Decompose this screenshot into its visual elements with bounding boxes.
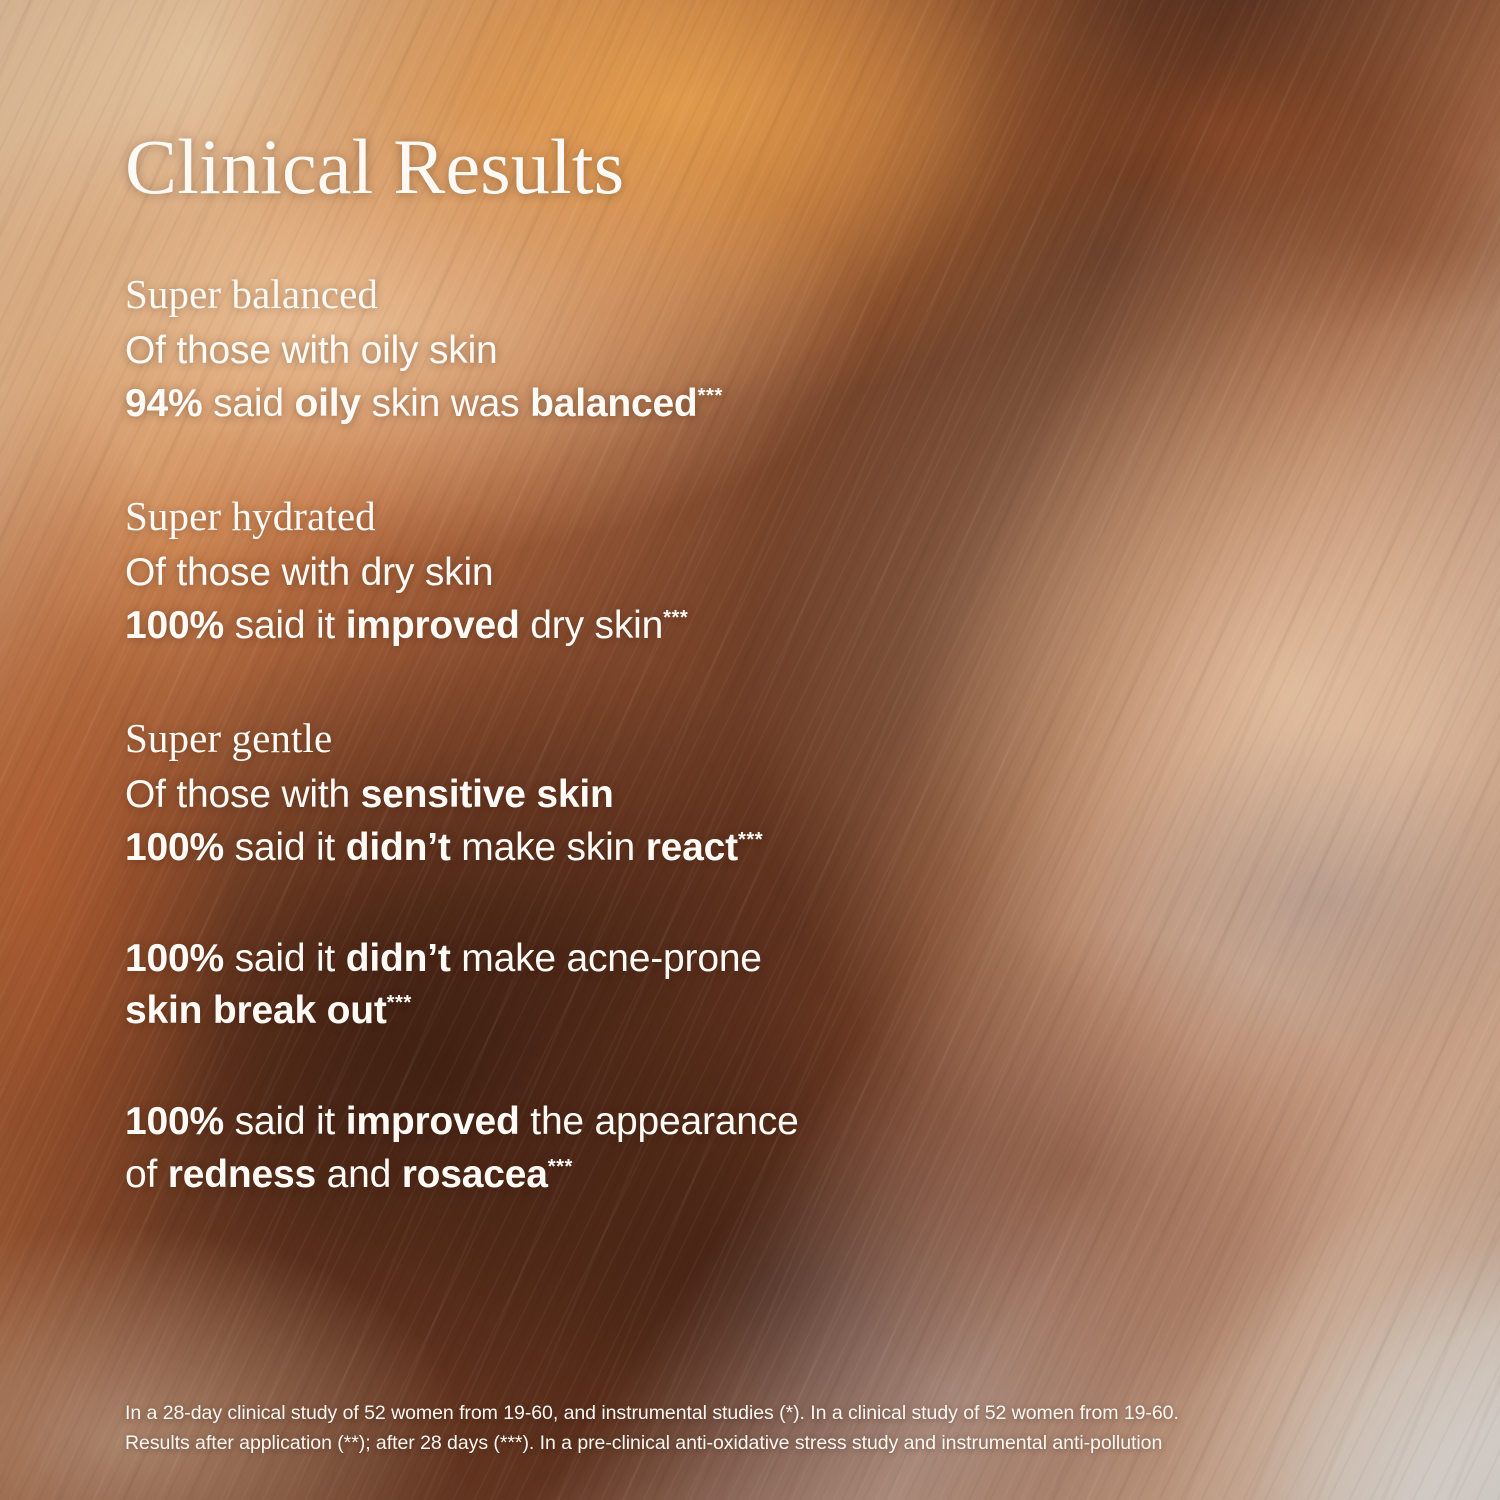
- claim-line: 100% said it didn’t make acne-prone: [125, 934, 1415, 985]
- claim-emphasis: rosacea: [402, 1153, 548, 1196]
- result-section: Super gentleOf those with sensitive skin…: [125, 712, 1415, 874]
- footnote-marker: ***: [738, 829, 763, 851]
- claim-emphasis: sensitive skin: [361, 773, 614, 816]
- section-heading: Super gentle: [125, 712, 1415, 764]
- claim-line: Of those with sensitive skin: [125, 770, 1415, 821]
- clinical-results-page: Clinical Results Super balancedOf those …: [0, 0, 1500, 1500]
- claim-emphasis: redness: [168, 1153, 316, 1196]
- claim-line: 100% said it improved dry skin***: [125, 601, 1415, 652]
- footnote-line-2: Results after application (**); after 28…: [125, 1428, 1415, 1458]
- result-section: 100% said it didn’t make acne-proneskin …: [125, 934, 1415, 1037]
- claim-emphasis: didn’t: [346, 937, 451, 980]
- claim-text: make skin: [451, 826, 646, 869]
- content-column: Clinical Results Super balancedOf those …: [125, 0, 1415, 1500]
- claim-line: of redness and rosacea***: [125, 1150, 1415, 1201]
- footnote-marker: ***: [663, 607, 688, 629]
- claim-emphasis: react: [646, 826, 738, 869]
- claim-text: said it: [224, 604, 346, 647]
- claim-text: Of those with: [125, 773, 361, 816]
- claim-emphasis: didn’t: [346, 826, 451, 869]
- claim-text: Of those with oily skin: [125, 329, 498, 372]
- claim-emphasis: 94%: [125, 382, 202, 425]
- claim-emphasis: improved: [346, 604, 520, 647]
- claim-emphasis: skin break out: [125, 989, 387, 1032]
- claim-text: said: [202, 382, 294, 425]
- claim-line: 100% said it didn’t make skin react***: [125, 823, 1415, 874]
- claim-text: said it: [224, 826, 346, 869]
- claim-emphasis: 100%: [125, 604, 224, 647]
- footnote: In a 28-day clinical study of 52 women f…: [125, 1398, 1415, 1458]
- result-section: Super balancedOf those with oily skin94%…: [125, 268, 1415, 430]
- claim-line: Of those with dry skin: [125, 548, 1415, 599]
- claim-text: skin was: [361, 382, 530, 425]
- claim-emphasis: 100%: [125, 1100, 224, 1143]
- claim-text: of: [125, 1153, 168, 1196]
- claim-line: Of those with oily skin: [125, 326, 1415, 377]
- claim-text: dry skin: [520, 604, 663, 647]
- section-heading: Super balanced: [125, 268, 1415, 320]
- claim-emphasis: balanced: [530, 382, 697, 425]
- result-section: Super hydratedOf those with dry skin100%…: [125, 490, 1415, 652]
- footnote-line-1: In a 28-day clinical study of 52 women f…: [125, 1398, 1415, 1428]
- results-sections: Super balancedOf those with oily skin94%…: [125, 268, 1415, 1200]
- claim-text: said it: [224, 937, 346, 980]
- footnote-marker: ***: [698, 385, 723, 407]
- page-title: Clinical Results: [125, 128, 624, 206]
- footnote-marker: ***: [387, 992, 412, 1014]
- claim-text: the appearance: [520, 1100, 799, 1143]
- footnote-marker: ***: [548, 1156, 573, 1178]
- claim-text: make acne-prone: [451, 937, 762, 980]
- claim-text: said it: [224, 1100, 346, 1143]
- claim-emphasis: oily: [294, 382, 360, 425]
- claim-text: and: [316, 1153, 402, 1196]
- section-heading: Super hydrated: [125, 490, 1415, 542]
- claim-text: Of those with dry skin: [125, 551, 493, 594]
- claim-line: 100% said it improved the appearance: [125, 1097, 1415, 1148]
- claim-emphasis: 100%: [125, 937, 224, 980]
- claim-emphasis: 100%: [125, 826, 224, 869]
- claim-line: 94% said oily skin was balanced***: [125, 379, 1415, 430]
- claim-emphasis: improved: [346, 1100, 520, 1143]
- claim-line: skin break out***: [125, 986, 1415, 1037]
- result-section: 100% said it improved the appearanceof r…: [125, 1097, 1415, 1200]
